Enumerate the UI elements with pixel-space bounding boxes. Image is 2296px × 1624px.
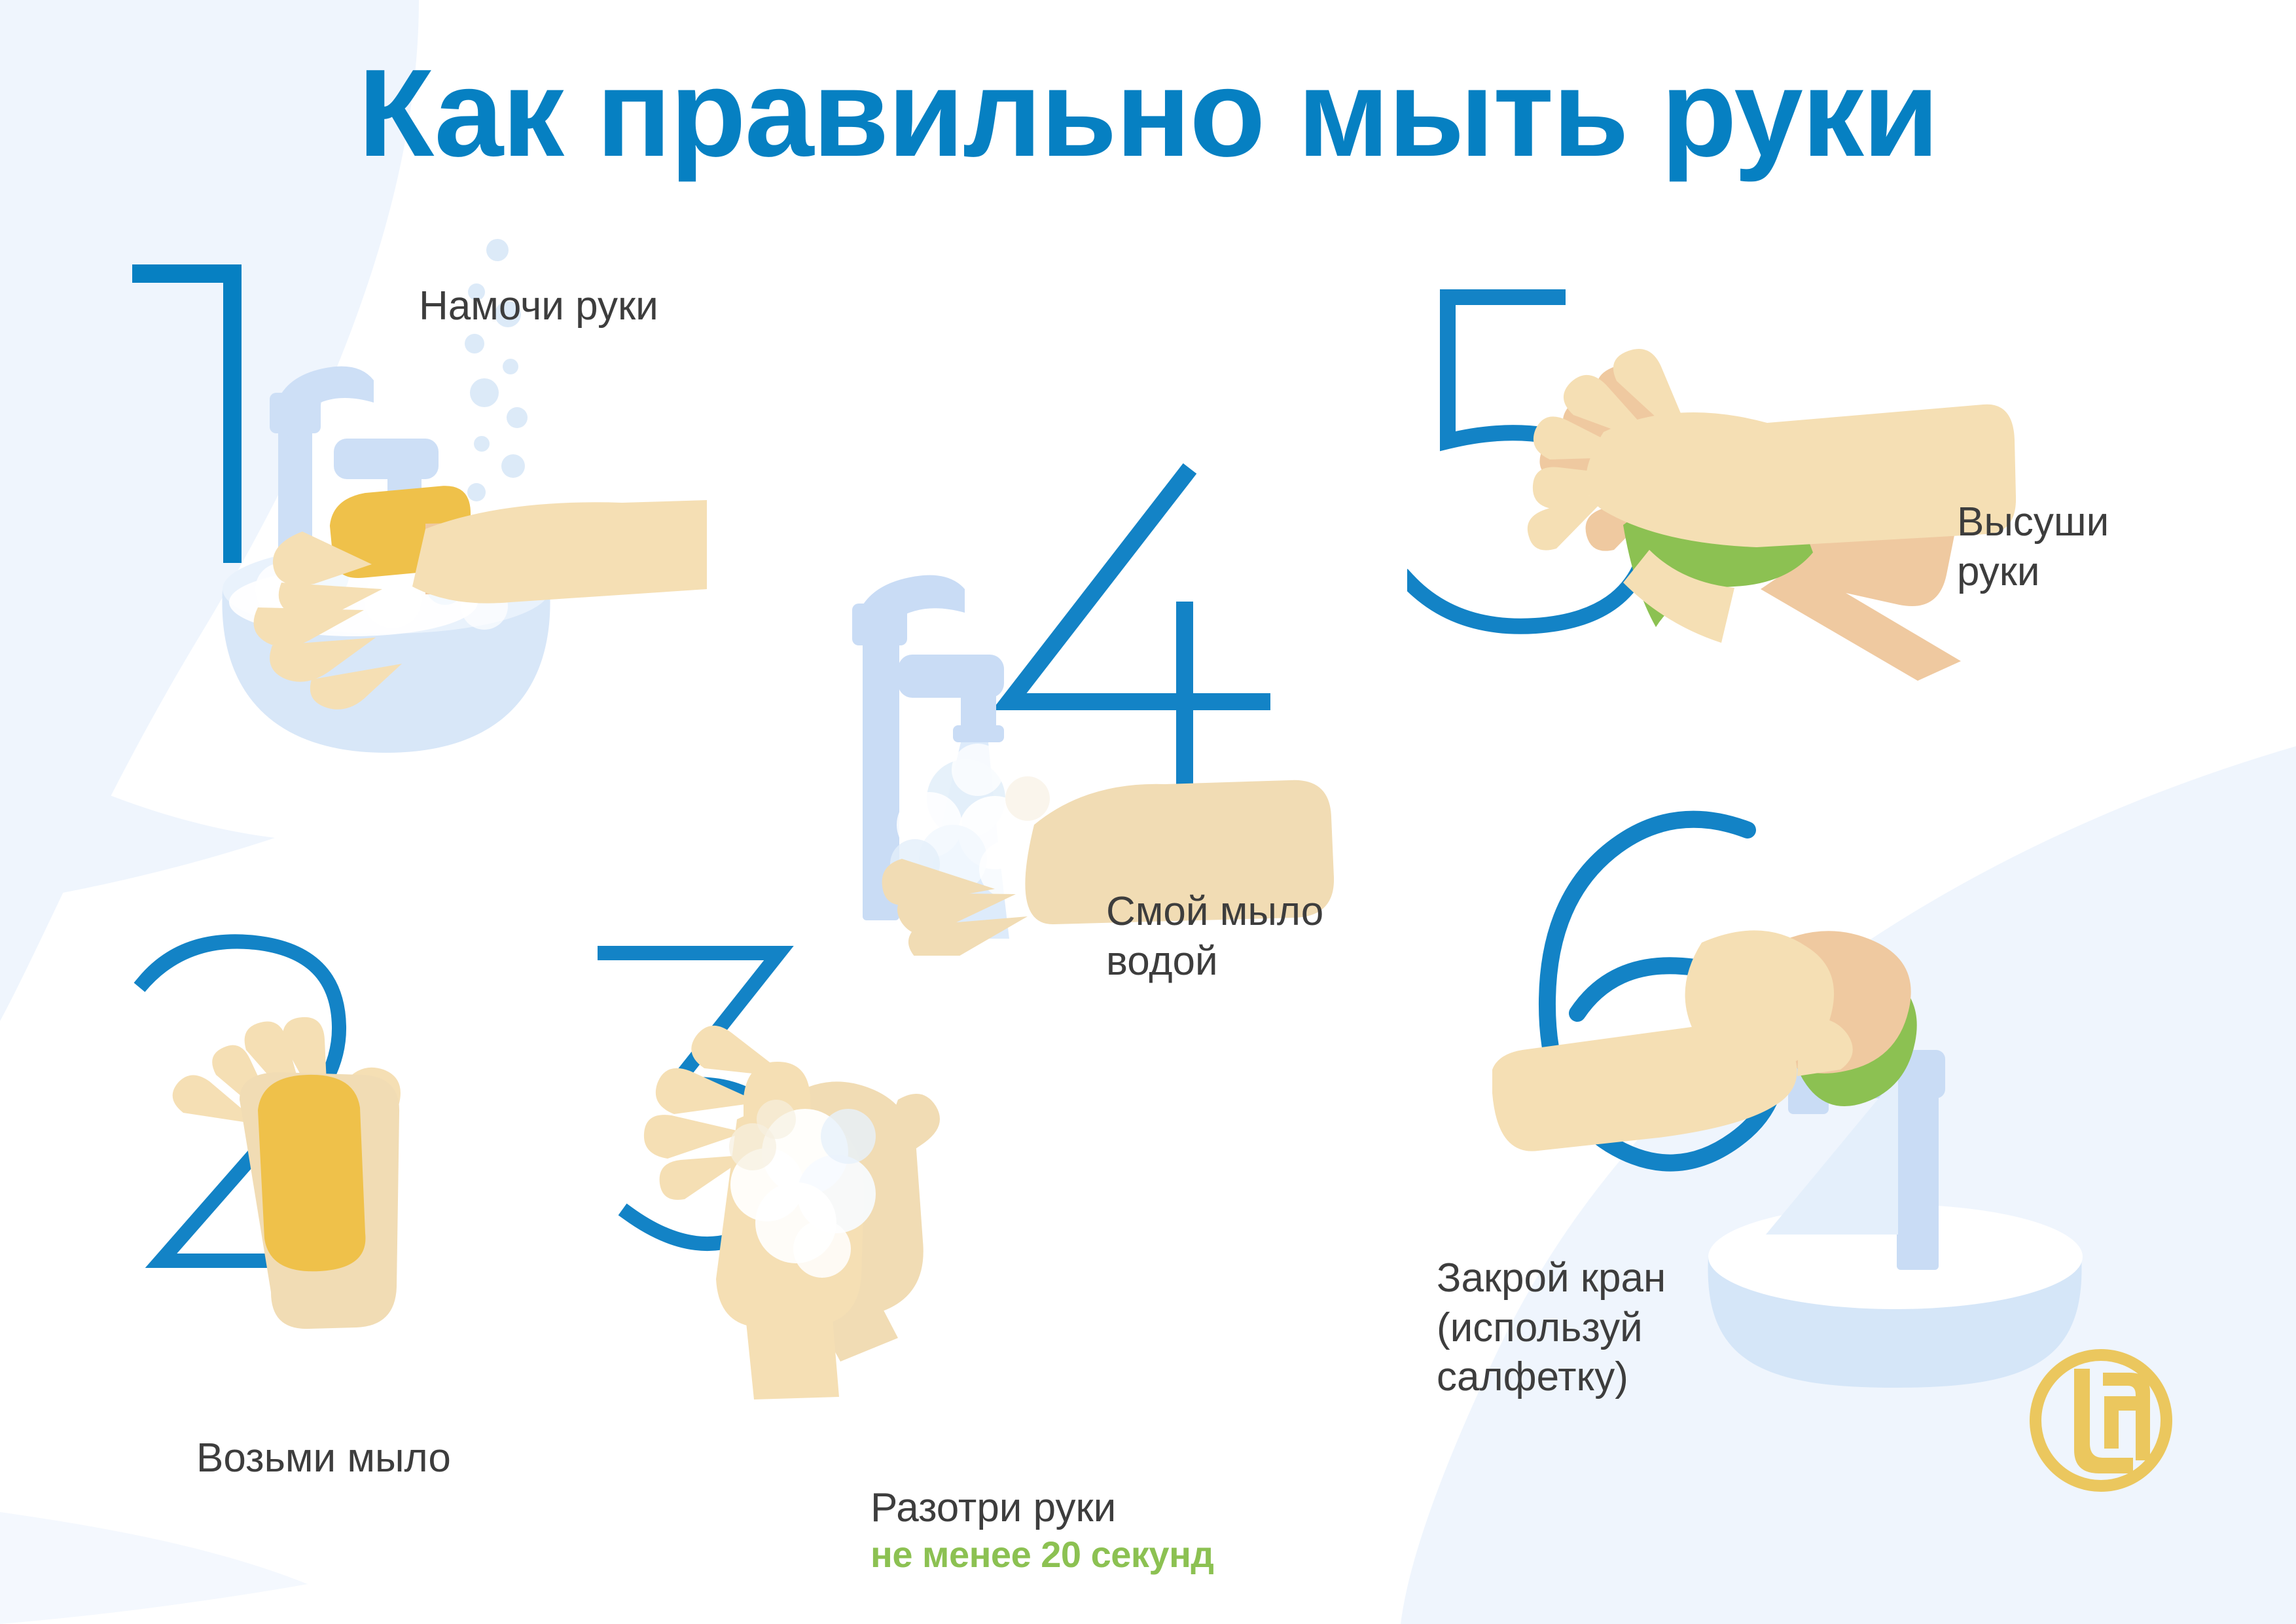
- step-3-caption-main: Разотри руки: [870, 1485, 1116, 1530]
- step-4-caption: Смой мыло водой: [1106, 887, 1323, 986]
- step-1-illustration: [118, 236, 707, 877]
- step-3: [589, 903, 1086, 1401]
- numeral-1-icon: [132, 274, 232, 563]
- blob-bottom-left: [0, 1512, 308, 1624]
- step-3-illustration: [589, 903, 1086, 1401]
- step-4: [838, 458, 1374, 956]
- step-3-caption-highlight: не менее 20 секунд: [870, 1532, 1213, 1577]
- step-2: [118, 903, 524, 1388]
- step-5-caption: Высуши руки: [1957, 497, 2109, 596]
- step-2-caption: Возьми мыло: [196, 1434, 451, 1483]
- poster-canvas: Как правильно мыть руки: [0, 0, 2296, 1624]
- step-2-illustration: [118, 903, 524, 1388]
- step-1: [118, 236, 707, 877]
- circular-monogram-logo-icon: [2026, 1345, 2176, 1496]
- step-3-caption: Разотри руки не менее 20 секунд: [870, 1434, 1213, 1624]
- brand-logo: [2026, 1345, 2176, 1496]
- numeral-4-icon: [1009, 475, 1262, 812]
- step-5-illustration: [1407, 275, 2016, 681]
- hand-upper: [1528, 349, 2016, 643]
- step-4-illustration: [838, 458, 1374, 956]
- page-title: Как правильно мыть руки: [0, 51, 2296, 175]
- soap-bar: [258, 1075, 365, 1271]
- hand-holding-soap: [173, 1017, 401, 1329]
- step-1-caption: Намочи руки: [419, 281, 658, 331]
- step-6-caption: Закрой кран (используй салфетку): [1437, 1254, 1666, 1402]
- step-5: [1407, 275, 2016, 681]
